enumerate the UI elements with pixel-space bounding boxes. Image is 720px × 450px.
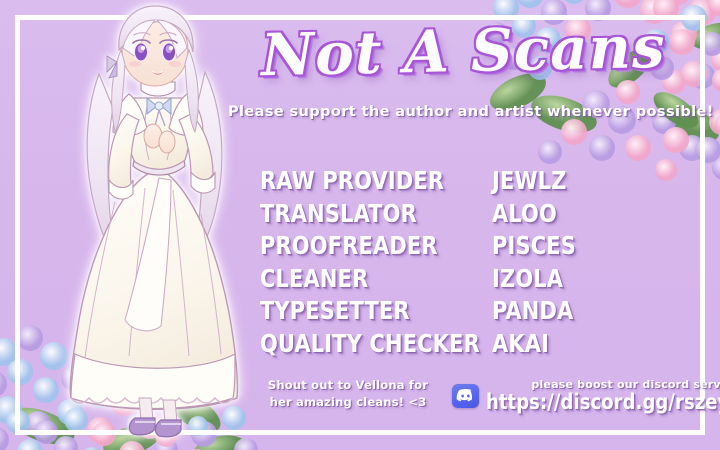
credit-role: RAW PROVIDER (260, 168, 476, 193)
page-title: Not A Scans (228, 8, 698, 94)
credit-row: TRANSLATOR ALOO (260, 201, 680, 234)
credit-role: CLEANER (260, 266, 476, 291)
credit-row: RAW PROVIDER JEWLZ (260, 168, 680, 201)
credit-role: QUALITY CHECKER (260, 331, 476, 356)
credit-name: IZOLA (492, 266, 659, 291)
character-illustration (55, 2, 255, 442)
credit-role: PROOFREADER (260, 233, 476, 258)
discord-texts: please boost our discord server https://… (486, 378, 720, 413)
credit-row: QUALITY CHECKER AKAI (260, 331, 680, 364)
credit-name: PANDA (492, 298, 659, 323)
credits-list: RAW PROVIDER JEWLZ TRANSLATOR ALOO PROOF… (260, 168, 680, 363)
credit-row: CLEANER IZOLA (260, 266, 680, 299)
discord-invite[interactable]: please boost our discord server https://… (452, 378, 720, 413)
credit-role: TYPESETTER (260, 298, 476, 323)
credit-name: ALOO (492, 201, 659, 226)
support-notice: Please support the author and artist whe… (228, 103, 698, 121)
credit-name: PISCES (492, 233, 659, 258)
cleaner-shoutout: Shout out to Vellona for her amazing cle… (258, 377, 438, 410)
shoutout-line-1: Shout out to Vellona for (258, 377, 438, 394)
credit-name: AKAI (492, 331, 659, 356)
page-title-text: Not A Scans (260, 18, 666, 84)
discord-logo-icon (452, 384, 479, 408)
credit-name: JEWLZ (492, 168, 659, 193)
discord-url-link[interactable]: https://discord.gg/rszeywm (486, 392, 720, 413)
credit-row: PROOFREADER PISCES (260, 233, 680, 266)
credits-page: Not A Scans Please support the author an… (0, 0, 720, 450)
support-notice-text: Please support the author and artist whe… (228, 104, 714, 120)
credit-row: TYPESETTER PANDA (260, 298, 680, 331)
shoutout-line-2: her amazing cleans! <3 (258, 394, 438, 411)
credit-role: TRANSLATOR (260, 201, 476, 226)
